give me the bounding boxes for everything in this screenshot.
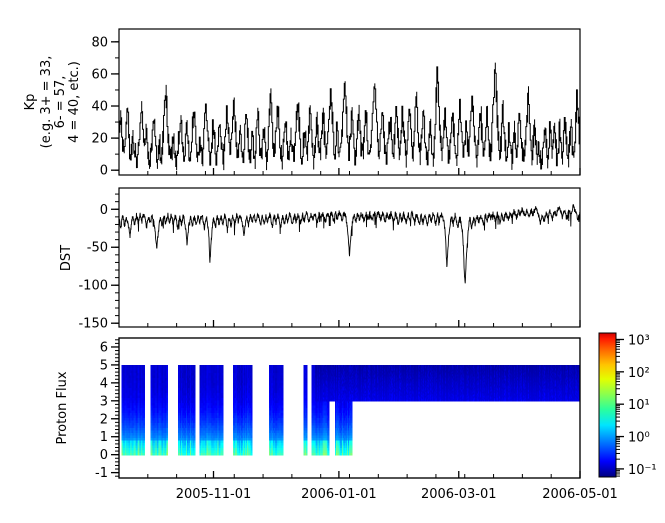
- kp-label-line-3: 4 = 40, etc.): [67, 61, 82, 143]
- kp-label-line-2: 6- = 57,: [53, 76, 68, 129]
- y-tick-label: 0: [100, 203, 108, 218]
- y-tick-label: -50: [87, 241, 108, 256]
- y-tick-label: 40: [91, 100, 108, 115]
- y-tick-label: -100: [78, 279, 108, 294]
- flux-cell: [166, 365, 168, 368]
- dst-axis-label: DST: [59, 245, 74, 271]
- y-tick-label: 20: [91, 132, 108, 147]
- kp-y-ticks: 020406080: [91, 35, 119, 178]
- y-tick-label: -150: [78, 317, 108, 332]
- panel-kp: 020406080 Kp (e.g. 3+ = 33, 6- = 57, 4 =…: [23, 29, 580, 179]
- multi-panel-plot: 020406080 Kp (e.g. 3+ = 33, 6- = 57, 4 =…: [0, 0, 665, 523]
- flux-cell: [251, 365, 253, 368]
- y-tick-label: 60: [91, 67, 108, 82]
- flux-cell: [282, 365, 284, 368]
- dst-plot-frame: [119, 188, 580, 327]
- flux-cell: [306, 365, 308, 368]
- figure-canvas: 020406080 Kp (e.g. 3+ = 33, 6- = 57, 4 =…: [0, 0, 665, 523]
- flux-cell: [222, 365, 224, 368]
- panel-proton-flux: -10123456 Proton Flux 2005-11-012006-01-…: [55, 338, 618, 502]
- kp-label-line-1: (e.g. 3+ = 33,: [39, 56, 54, 149]
- flux-cell: [143, 365, 145, 368]
- y-tick-label: 80: [91, 35, 108, 50]
- flux-cell: [194, 365, 196, 368]
- y-tick-label: 0: [100, 164, 108, 179]
- dst-y-ticks: 0-50-100-150: [78, 194, 119, 332]
- panel-dst: 0-50-100-150 DST: [59, 188, 580, 332]
- kp-label-line-0: Kp: [23, 94, 38, 111]
- kp-axis-label: Kp (e.g. 3+ = 33, 6- = 57, 4 = 40, etc.): [23, 56, 82, 149]
